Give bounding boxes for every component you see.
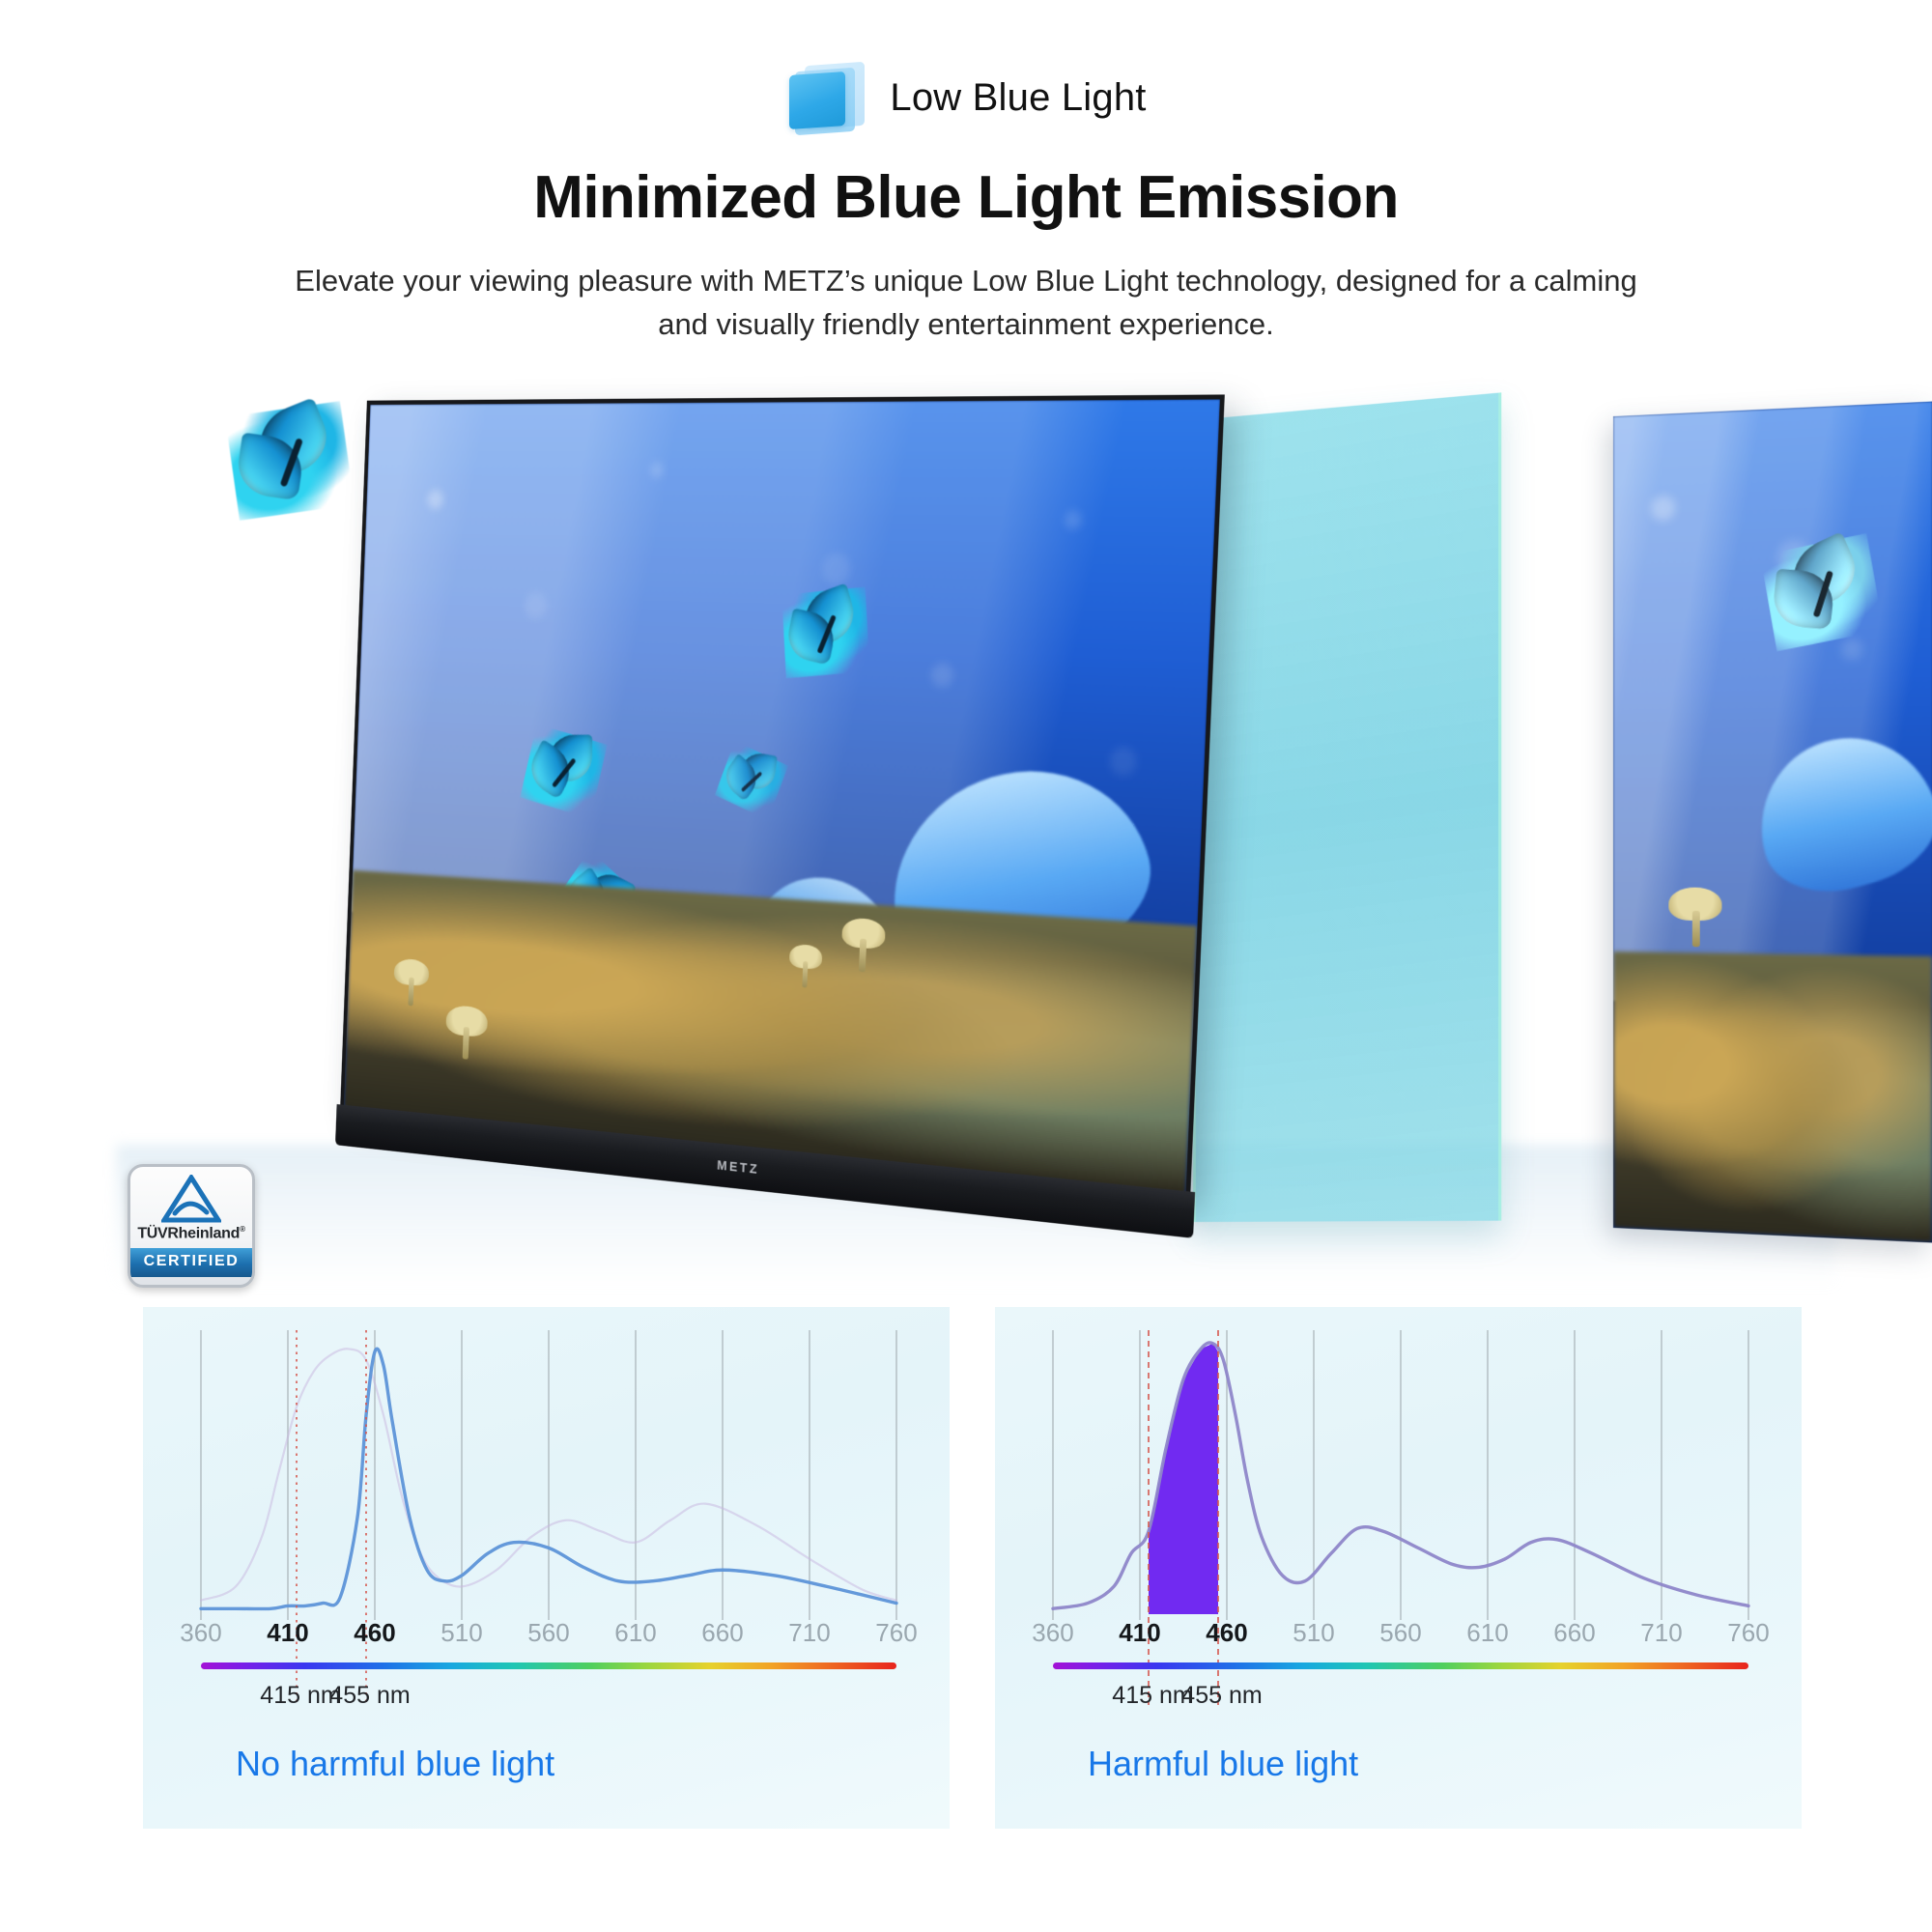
visible-spectrum-bar-right <box>1053 1662 1748 1669</box>
rear-screen-artwork <box>1613 402 1932 1243</box>
visible-spectrum-bar-left <box>201 1662 896 1669</box>
marker-labels-left: 415 nm455 nm <box>201 1682 896 1720</box>
tuv-certified-label: CERTIFIED <box>130 1248 252 1277</box>
tv-brand-logo: METZ <box>717 1157 759 1177</box>
chart-verdict-right: Harmful blue light <box>1088 1744 1358 1784</box>
registered-mark: ® <box>240 1225 245 1234</box>
marker-label-415: 415 nm <box>1112 1682 1192 1710</box>
rear-screen-panel <box>1613 402 1932 1243</box>
spectrum-plot-left <box>201 1330 896 1620</box>
scene-ground <box>1613 952 1932 1243</box>
x-axis-tick-labels-right: 360410460510560610660710760 <box>1053 1618 1748 1657</box>
hero-butterfly <box>225 401 355 521</box>
main-tv: METZ <box>340 395 1225 1196</box>
panel-layer-front <box>789 71 845 129</box>
x-tick-510: 510 <box>440 1618 482 1648</box>
scene-mushroom <box>1669 888 1722 922</box>
x-axis-tick-labels-left: 360410460510560610660710760 <box>201 1618 896 1657</box>
x-tick-610: 610 <box>614 1618 656 1648</box>
x-tick-760: 760 <box>875 1618 917 1648</box>
page-title: Minimized Blue Light Emission <box>0 164 1932 231</box>
tuv-name-text: TÜVRheinland <box>137 1226 240 1242</box>
marker-label-415: 415 nm <box>260 1682 340 1710</box>
blue-light-filter-pane <box>1193 393 1501 1223</box>
spectrum-plot-right <box>1053 1330 1748 1620</box>
scene-butterfly <box>781 587 869 679</box>
tuv-triangle-icon <box>161 1175 221 1223</box>
x-tick-710: 710 <box>1640 1618 1682 1648</box>
marker-label-455: 455 nm <box>329 1682 410 1710</box>
x-tick-460: 460 <box>1206 1618 1247 1648</box>
scene-sky <box>1613 402 1932 1008</box>
x-tick-610: 610 <box>1466 1618 1508 1648</box>
spectrum-comparison: 360410460510560610660710760 415 nm455 nm… <box>0 1307 1932 1848</box>
chart-card-no-harmful: 360410460510560610660710760 415 nm455 nm… <box>143 1307 950 1829</box>
x-tick-360: 360 <box>180 1618 221 1648</box>
x-tick-660: 660 <box>1553 1618 1595 1648</box>
x-tick-660: 660 <box>701 1618 743 1648</box>
marker-labels-right: 415 nm455 nm <box>1053 1682 1748 1720</box>
x-tick-460: 460 <box>354 1618 395 1648</box>
x-tick-510: 510 <box>1293 1618 1334 1648</box>
x-tick-560: 560 <box>527 1618 569 1648</box>
blue-light-panel-icon <box>785 62 868 133</box>
page-description: Elevate your viewing pleasure with METZ’… <box>295 260 1637 347</box>
x-tick-410: 410 <box>267 1618 308 1648</box>
brand-row: Low Blue Light <box>0 56 1932 139</box>
screen-artwork <box>344 400 1220 1196</box>
tv-screen <box>340 395 1225 1196</box>
x-tick-360: 360 <box>1032 1618 1073 1648</box>
tuv-badge-name: TÜVRheinland® <box>137 1225 244 1242</box>
hero-visual: METZ TÜVRheinland® CERTIFIED <box>0 382 1932 1290</box>
tuv-rheinland-badge: TÜVRheinland® CERTIFIED <box>128 1164 255 1288</box>
chart-verdict-left: No harmful blue light <box>236 1744 554 1784</box>
x-tick-410: 410 <box>1119 1618 1160 1648</box>
x-tick-710: 710 <box>788 1618 830 1648</box>
page-header: Low Blue Light Minimized Blue Light Emis… <box>0 0 1932 347</box>
marker-label-455: 455 nm <box>1181 1682 1262 1710</box>
chart-card-harmful: 360410460510560610660710760 415 nm455 nm… <box>995 1307 1802 1829</box>
x-tick-760: 760 <box>1727 1618 1769 1648</box>
brand-label: Low Blue Light <box>890 76 1146 120</box>
x-tick-560: 560 <box>1379 1618 1421 1648</box>
